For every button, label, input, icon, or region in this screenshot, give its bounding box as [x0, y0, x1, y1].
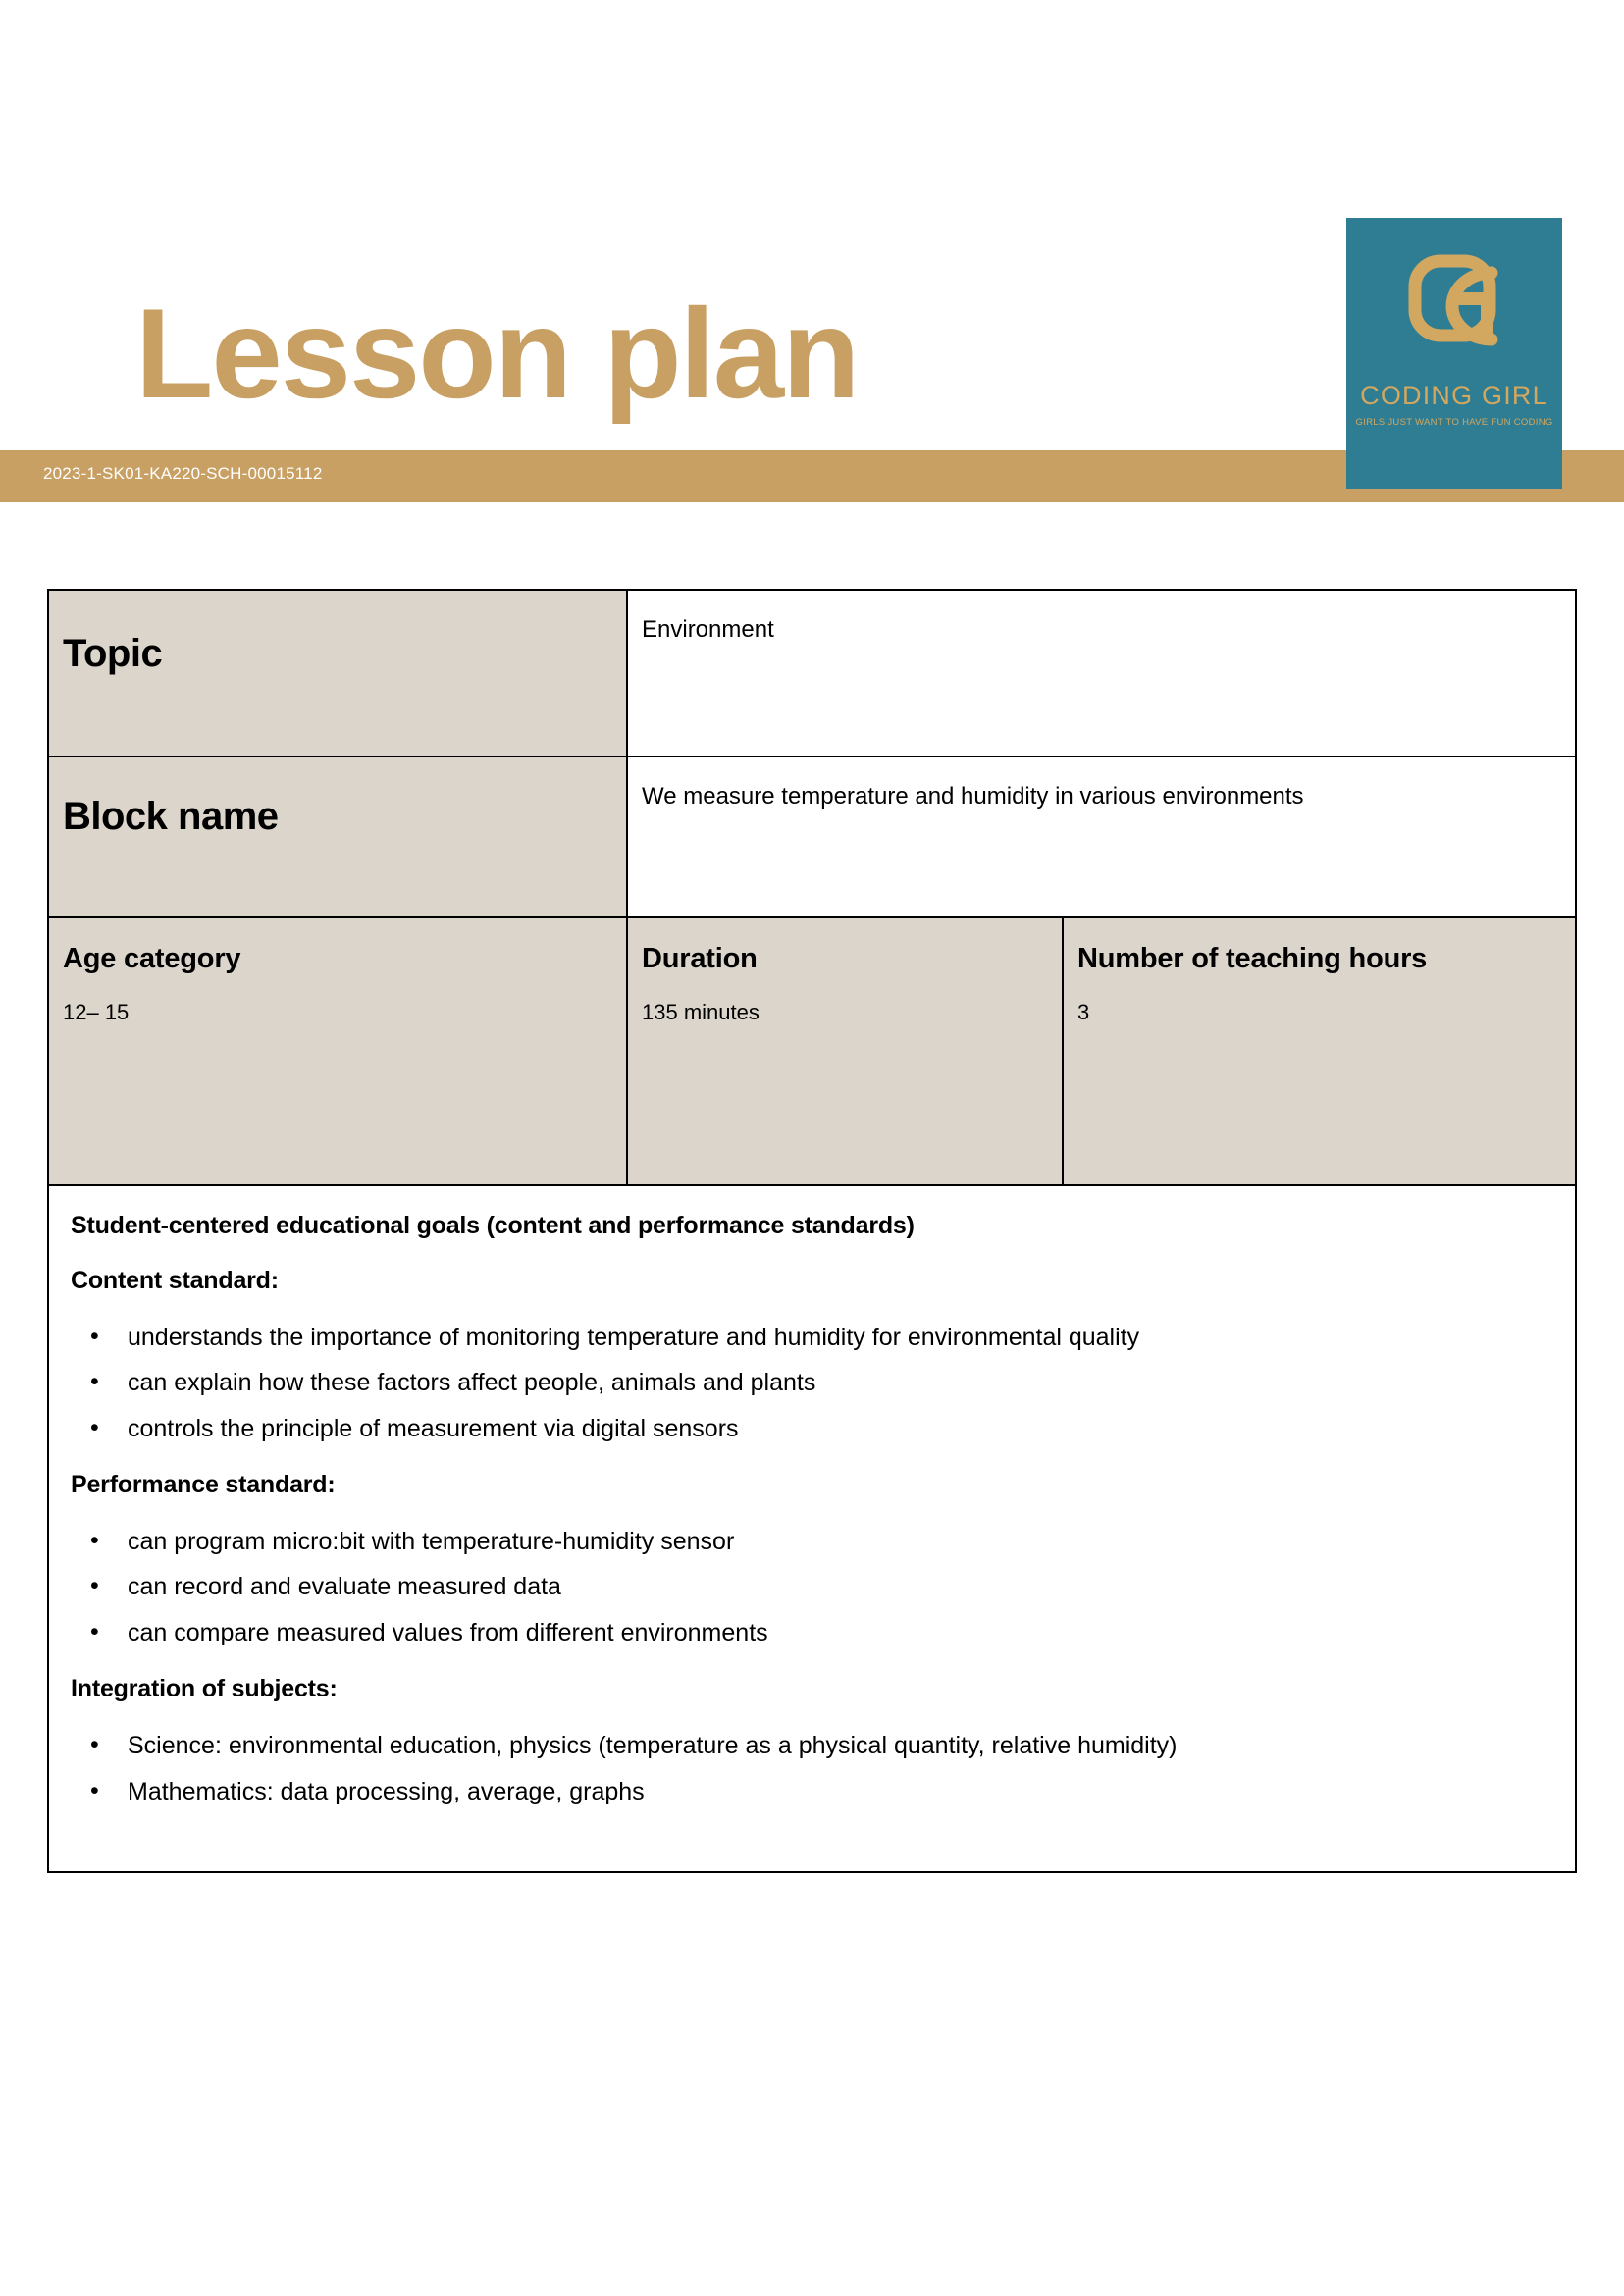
performance-standard-heading: Performance standard: — [71, 1469, 1553, 1502]
integration-of-subjects-heading: Integration of subjects: — [71, 1673, 1553, 1706]
list-item: Science: environmental education, physic… — [112, 1728, 1553, 1765]
teaching-hours-value: 3 — [1077, 996, 1561, 1028]
table-row-age-duration-hours: Age category 12– 15 Duration 135 minutes… — [48, 917, 1576, 1185]
list-item: can program micro:bit with temperature-h… — [112, 1524, 1553, 1561]
topic-label-cell: Topic — [48, 590, 627, 757]
goals-block: Student-centered educational goals (cont… — [49, 1186, 1575, 1871]
age-category-block: Age category 12– 15 — [49, 918, 626, 1038]
list-item: controls the principle of measurement vi… — [112, 1411, 1553, 1448]
block-name-label-cell: Block name — [48, 757, 627, 917]
age-category-label: Age category — [63, 940, 612, 978]
table-row-goals: Student-centered educational goals (cont… — [48, 1185, 1576, 1872]
age-category-value: 12– 15 — [63, 996, 612, 1028]
topic-value: Environment — [628, 591, 1575, 657]
content-standard-list: understands the importance of monitoring… — [71, 1320, 1553, 1448]
duration-block: Duration 135 minutes — [628, 918, 1062, 1038]
topic-value-cell: Environment — [627, 590, 1576, 757]
age-category-cell: Age category 12– 15 — [48, 917, 627, 1185]
teaching-hours-block: Number of teaching hours 3 — [1064, 918, 1575, 1038]
teaching-hours-label: Number of teaching hours — [1077, 940, 1561, 978]
lesson-plan-table: Topic Environment Block name We measure … — [47, 589, 1577, 1873]
project-code-label: 2023-1-SK01-KA220-SCH-00015112 — [43, 465, 322, 482]
block-name-value: We measure temperature and humidity in v… — [628, 757, 1575, 824]
logo-name: CODING GIRL — [1346, 383, 1562, 409]
cg-monogram-icon — [1389, 239, 1519, 373]
block-name-value-cell: We measure temperature and humidity in v… — [627, 757, 1576, 917]
list-item: can compare measured values from differe… — [112, 1615, 1553, 1652]
table-row-topic: Topic Environment — [48, 590, 1576, 757]
list-item: understands the importance of monitoring… — [112, 1320, 1553, 1357]
page-title: Lesson plan — [135, 283, 858, 426]
teaching-hours-cell: Number of teaching hours 3 — [1063, 917, 1576, 1185]
performance-standard-list: can program micro:bit with temperature-h… — [71, 1524, 1553, 1652]
content-standard-heading: Content standard: — [71, 1265, 1553, 1298]
duration-value: 135 minutes — [642, 996, 1048, 1028]
list-item: can record and evaluate measured data — [112, 1569, 1553, 1606]
logo-tagline: GIRLS JUST WANT TO HAVE FUN CODING — [1346, 418, 1562, 428]
table-row-block-name: Block name We measure temperature and hu… — [48, 757, 1576, 917]
duration-cell: Duration 135 minutes — [627, 917, 1063, 1185]
block-name-label: Block name — [49, 757, 626, 850]
list-item: can explain how these factors affect peo… — [112, 1365, 1553, 1402]
integration-of-subjects-list: Science: environmental education, physic… — [71, 1728, 1553, 1810]
coding-girl-logo: CODING GIRL GIRLS JUST WANT TO HAVE FUN … — [1346, 218, 1562, 489]
duration-label: Duration — [642, 940, 1048, 978]
topic-label: Topic — [49, 591, 626, 687]
list-item: Mathematics: data processing, average, g… — [112, 1774, 1553, 1811]
goals-cell: Student-centered educational goals (cont… — [48, 1185, 1576, 1872]
goals-heading: Student-centered educational goals (cont… — [71, 1210, 1553, 1243]
